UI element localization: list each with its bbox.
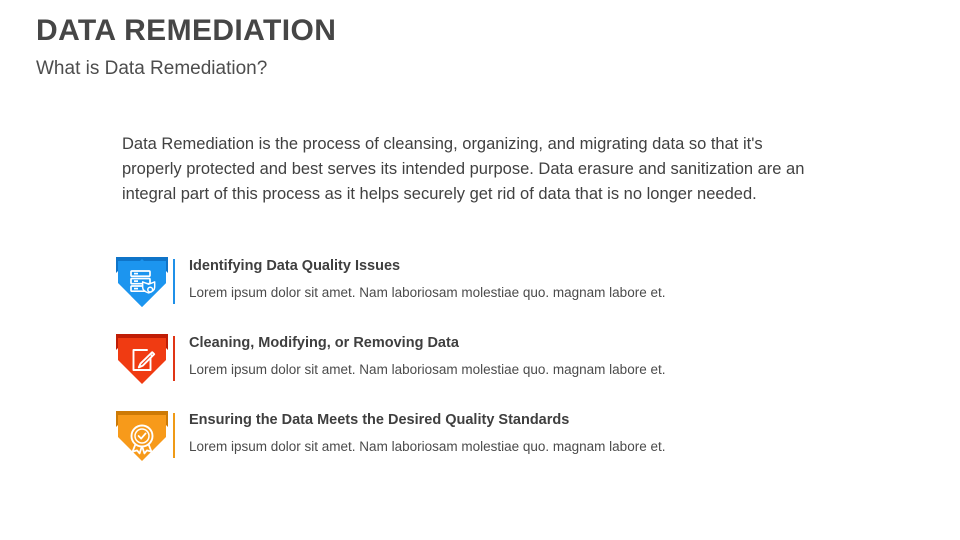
row-divider — [173, 413, 175, 458]
page-subtitle: What is Data Remediation? — [36, 58, 916, 81]
row-divider — [173, 259, 175, 304]
feature-text-block: Identifying Data Quality Issues Lorem ip… — [189, 256, 665, 302]
feature-heading: Ensuring the Data Meets the Desired Qual… — [189, 411, 665, 429]
feature-list: Identifying Data Quality Issues Lorem ip… — [116, 256, 916, 467]
list-item: Cleaning, Modifying, or Removing Data Lo… — [116, 333, 916, 390]
award-check-icon — [116, 411, 168, 463]
feature-description: Lorem ipsum dolor sit amet. Nam laborios… — [189, 284, 665, 302]
feature-description: Lorem ipsum dolor sit amet. Nam laborios… — [189, 361, 665, 379]
feature-text-block: Ensuring the Data Meets the Desired Qual… — [189, 410, 665, 456]
slide-root: DATA REMEDIATION What is Data Remediatio… — [0, 0, 960, 540]
feature-heading: Identifying Data Quality Issues — [189, 257, 665, 275]
feature-heading: Cleaning, Modifying, or Removing Data — [189, 334, 665, 352]
page-title: DATA REMEDIATION — [36, 14, 916, 49]
feature-text-block: Cleaning, Modifying, or Removing Data Lo… — [189, 333, 665, 379]
feature-description: Lorem ipsum dolor sit amet. Nam laborios… — [189, 438, 665, 456]
row-divider — [173, 336, 175, 381]
list-item: Identifying Data Quality Issues Lorem ip… — [116, 256, 916, 313]
server-shield-icon — [116, 257, 168, 309]
intro-paragraph: Data Remediation is the process of clean… — [122, 132, 814, 207]
list-item: Ensuring the Data Meets the Desired Qual… — [116, 410, 916, 467]
pencil-edit-icon — [116, 334, 168, 386]
slide-header: DATA REMEDIATION What is Data Remediatio… — [36, 14, 916, 80]
